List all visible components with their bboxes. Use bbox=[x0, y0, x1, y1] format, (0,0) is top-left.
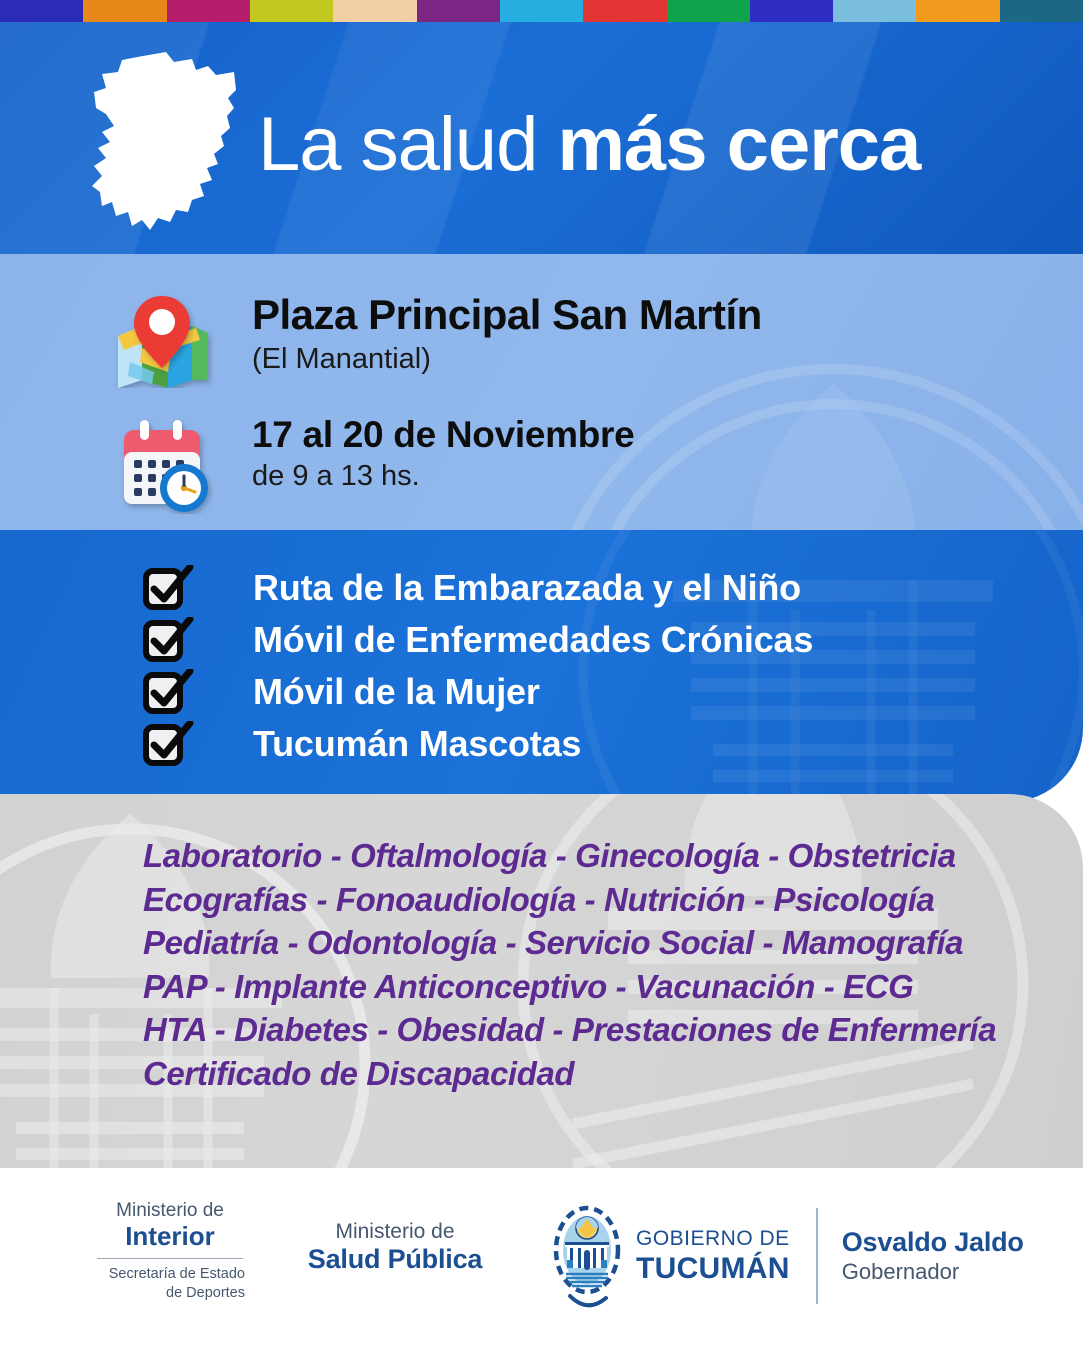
checkbox-checked-icon bbox=[143, 617, 197, 663]
event-hours: de 9 a 13 hs. bbox=[252, 458, 634, 494]
event-info-band: Plaza Principal San Martín (El Manantial… bbox=[0, 254, 1083, 530]
color-bar-segment-amber bbox=[916, 0, 999, 22]
footer-logos: Ministerio de Interior Secretaría de Est… bbox=[0, 1168, 1083, 1351]
specialty-line: Pediatría - Odontología - Servicio Socia… bbox=[143, 921, 1023, 965]
tucuman-province-map-silhouette-icon bbox=[88, 50, 238, 235]
salud-line2: Salud Pública bbox=[295, 1244, 495, 1275]
checklist-item: Tucumán Mascotas bbox=[143, 718, 813, 770]
salud-line1: Ministerio de bbox=[295, 1219, 495, 1244]
page-title-thin: La salud bbox=[258, 102, 557, 187]
color-bar-segment-teal bbox=[1000, 0, 1083, 22]
checklist-item-label: Tucumán Mascotas bbox=[253, 726, 581, 762]
page-title-bold: más cerca bbox=[557, 102, 920, 187]
top-color-bar bbox=[0, 0, 1083, 22]
specialty-line: HTA - Diabetes - Obesidad - Prestaciones… bbox=[143, 1008, 1023, 1052]
checklist: Ruta de la Embarazada y el NiñoMóvil de … bbox=[143, 562, 813, 770]
checklist-item-label: Móvil de la Mujer bbox=[253, 674, 540, 710]
gobierno-line1: GOBIERNO DE bbox=[636, 1227, 790, 1252]
logo-ministerio-salud: Ministerio de Salud Pública bbox=[295, 1219, 495, 1275]
governor-block: Osvaldo Jaldo Gobernador bbox=[842, 1227, 1024, 1285]
color-bar-segment-indigo bbox=[0, 0, 83, 22]
color-bar-segment-cyan bbox=[500, 0, 583, 22]
color-bar-segment-orange bbox=[83, 0, 166, 22]
tucuman-coat-of-arms-icon bbox=[552, 1204, 622, 1308]
gobierno-line2: TUCUMÁN bbox=[636, 1252, 790, 1285]
color-bar-segment-peach bbox=[333, 0, 416, 22]
color-bar-segment-olive-yellow bbox=[250, 0, 333, 22]
location-row: Plaza Principal San Martín (El Manantial… bbox=[110, 288, 762, 393]
location-detail: (El Manantial) bbox=[252, 341, 762, 377]
color-bar-segment-sky bbox=[833, 0, 916, 22]
color-bar-segment-red bbox=[583, 0, 666, 22]
governor-name: Osvaldo Jaldo bbox=[842, 1227, 1024, 1259]
services-checklist-band: Ruta de la Embarazada y el NiñoMóvil de … bbox=[0, 530, 1083, 802]
checklist-item-label: Ruta de la Embarazada y el Niño bbox=[253, 570, 801, 606]
date-row: 17 al 20 de Noviembre de 9 a 13 hs. bbox=[110, 414, 634, 519]
header-banner: La salud más cerca bbox=[0, 22, 1083, 254]
governor-role: Gobernador bbox=[842, 1259, 1024, 1285]
location-name: Plaza Principal San Martín bbox=[252, 294, 762, 337]
color-bar-segment-magenta bbox=[167, 0, 250, 22]
checkbox-checked-icon bbox=[143, 669, 197, 715]
specialty-line: Ecografías - Fonoaudiología - Nutrición … bbox=[143, 878, 1023, 922]
interior-line1: Ministerio de bbox=[95, 1200, 245, 1222]
specialty-line: Certificado de Discapacidad bbox=[143, 1052, 1023, 1096]
specialty-line: PAP - Implante Anticonceptivo - Vacunaci… bbox=[143, 965, 1023, 1009]
interior-line2: Interior bbox=[95, 1222, 245, 1251]
poster-root: La salud más cerca bbox=[0, 0, 1083, 1351]
footer-vertical-divider bbox=[816, 1208, 818, 1304]
event-dates: 17 al 20 de Noviembre bbox=[252, 416, 634, 455]
color-bar-segment-green bbox=[667, 0, 750, 22]
logo-ministerio-interior: Ministerio de Interior Secretaría de Est… bbox=[95, 1200, 245, 1303]
specialty-line: Laboratorio - Oftalmología - Ginecología… bbox=[143, 834, 1023, 878]
interior-line3a: Secretaría de Estado bbox=[95, 1265, 245, 1284]
checklist-item-label: Móvil de Enfermedades Crónicas bbox=[253, 622, 813, 658]
color-bar-segment-blue-violet bbox=[750, 0, 833, 22]
specialties-panel: Laboratorio - Oftalmología - Ginecología… bbox=[0, 794, 1083, 1168]
page-title: La salud más cerca bbox=[258, 107, 920, 183]
calendar-clock-icon bbox=[110, 414, 214, 519]
checklist-item: Móvil de Enfermedades Crónicas bbox=[143, 614, 813, 666]
checklist-item: Ruta de la Embarazada y el Niño bbox=[143, 562, 813, 614]
checklist-item: Móvil de la Mujer bbox=[143, 666, 813, 718]
specialties-list: Laboratorio - Oftalmología - Ginecología… bbox=[143, 834, 1023, 1095]
logo-gobierno-tucuman: GOBIERNO DE TUCUMÁN Osvaldo Jaldo Gobern… bbox=[552, 1204, 1024, 1308]
checkbox-checked-icon bbox=[143, 721, 197, 767]
interior-line3b: de Deportes bbox=[95, 1284, 245, 1303]
color-bar-segment-purple bbox=[417, 0, 500, 22]
map-with-pin-icon bbox=[110, 288, 214, 393]
gobierno-text: GOBIERNO DE TUCUMÁN bbox=[636, 1227, 790, 1285]
interior-divider bbox=[97, 1258, 243, 1259]
checkbox-checked-icon bbox=[143, 565, 197, 611]
